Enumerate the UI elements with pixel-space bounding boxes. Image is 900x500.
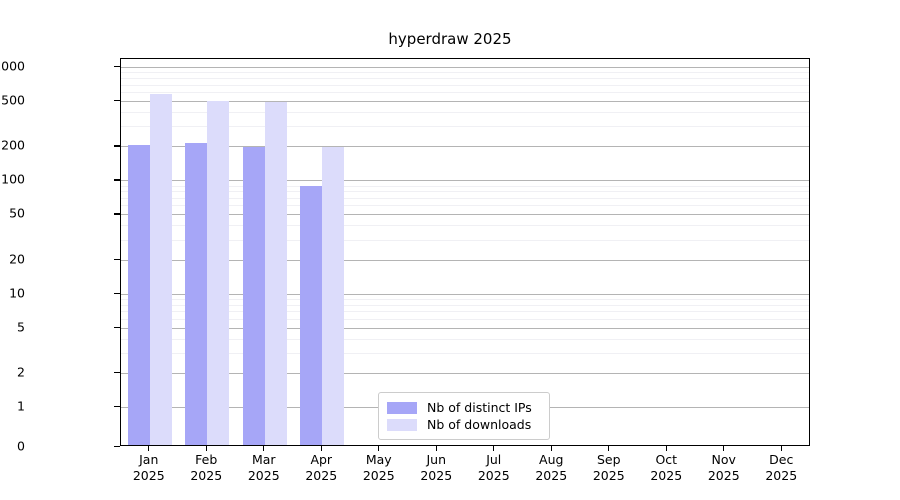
- x-axis-tick-label: Dec2025: [765, 452, 797, 484]
- x-axis-tick-label: Jun2025: [420, 452, 452, 484]
- x-axis-tick-mark: [263, 446, 264, 451]
- x-axis-tick-mark: [436, 446, 437, 451]
- x-axis-tick-mark: [321, 446, 322, 451]
- legend-swatch-downloads: [387, 419, 417, 431]
- x-axis-tick-label: Apr2025: [305, 452, 337, 484]
- x-axis-tick-mark: [608, 446, 609, 451]
- x-axis-tick-mark: [493, 446, 494, 451]
- legend-item-downloads[interactable]: Nb of downloads: [387, 416, 541, 433]
- chart-legend: Nb of distinct IPs Nb of downloads: [378, 392, 550, 440]
- x-axis-tick-label: Sep2025: [593, 452, 625, 484]
- x-axis-tick-label: Jan2025: [133, 452, 165, 484]
- x-axis-tick-label: Oct2025: [650, 452, 682, 484]
- x-axis-tick-label: Jul2025: [478, 452, 510, 484]
- x-axis-tick-mark: [723, 446, 724, 451]
- chart-figure: hyperdraw 2025 01251020501002005001000 J…: [0, 0, 900, 500]
- legend-label-distinct-ips: Nb of distinct IPs: [427, 400, 532, 415]
- x-axis-tick-label: Feb2025: [190, 452, 222, 484]
- x-axis-tick-label: May2025: [363, 452, 395, 484]
- x-axis-tick-label: Mar2025: [248, 452, 280, 484]
- x-axis-tick-mark: [781, 446, 782, 451]
- x-axis-tick-mark: [148, 446, 149, 451]
- legend-item-distinct-ips[interactable]: Nb of distinct IPs: [387, 399, 541, 416]
- x-axis-tick-label: Aug2025: [535, 452, 567, 484]
- x-axis-tick-label: Nov2025: [708, 452, 740, 484]
- x-axis-tick-mark: [206, 446, 207, 451]
- x-axis-tick-mark: [666, 446, 667, 451]
- legend-label-downloads: Nb of downloads: [427, 417, 531, 432]
- x-axis-tick-mark: [378, 446, 379, 451]
- legend-swatch-distinct-ips: [387, 402, 417, 414]
- x-axis-tick-mark: [551, 446, 552, 451]
